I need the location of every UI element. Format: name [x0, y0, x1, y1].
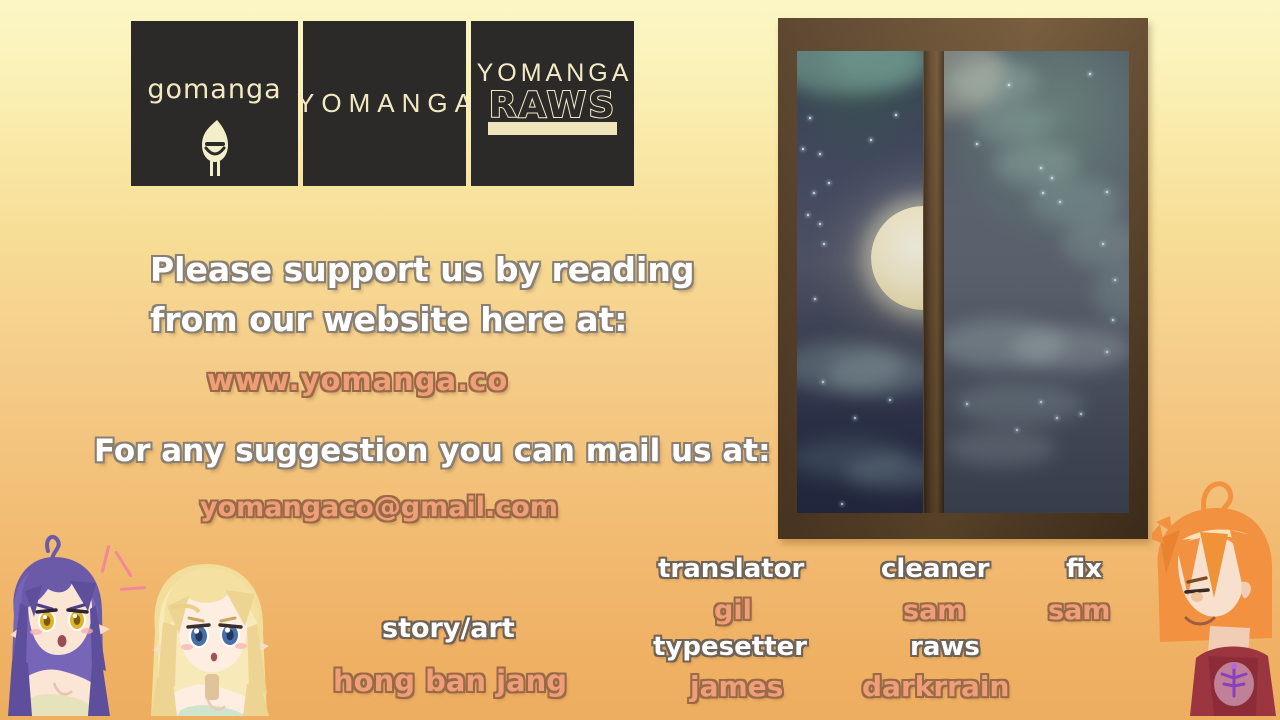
character-purple-haired-girl: [0, 531, 152, 720]
character-blonde-haired-girl: [137, 544, 287, 720]
cloud: [1030, 179, 1122, 225]
blob-mascot-icon: [193, 117, 237, 183]
credit-role-story-art: story/art: [382, 613, 515, 644]
yomanga-wordmark: YOMANGA: [290, 88, 479, 119]
credit-name-typesetter: james: [690, 670, 783, 703]
logo-box-yomanga: YOMANGA: [303, 21, 466, 186]
window-pane-right: [944, 51, 1129, 513]
credit-name-fix: sam: [1048, 595, 1110, 626]
cloud: [946, 429, 1056, 467]
cloud: [954, 383, 1084, 425]
credit-name-cleaner: sam: [903, 595, 965, 626]
credit-role-raws: raws: [910, 632, 980, 662]
credits-page: gomanga YOMANGA YOMANGA RAWS: [0, 0, 1280, 720]
credit-role-translator: translator: [658, 554, 804, 584]
credit-name-translator: gil: [714, 595, 752, 626]
support-text-line-4: For any suggestion you can mail us at:: [94, 433, 771, 469]
support-text-line-1: Please support us by reading: [150, 250, 694, 289]
credit-role-cleaner: cleaner: [881, 554, 989, 584]
credit-name-raws: darkrrain: [862, 670, 1009, 703]
credit-role-typesetter: typesetter: [653, 632, 807, 662]
credit-role-fix: fix: [1066, 554, 1102, 584]
window-divider: [924, 51, 944, 513]
character-orange-haired-boy: [1152, 478, 1280, 720]
cloud: [972, 103, 1052, 143]
night-window: [778, 18, 1148, 539]
credit-name-story-art: hong ban jang: [333, 664, 567, 698]
contact-email[interactable]: yomangaco@gmail.com: [200, 492, 558, 523]
window-pane-left: [797, 51, 923, 513]
website-url[interactable]: www.yomanga.co: [207, 363, 508, 397]
cloud: [1012, 327, 1129, 371]
logo-box-yomanga-raws: YOMANGA RAWS: [471, 21, 634, 186]
yomanga-raws-top-word: YOMANGA: [473, 60, 633, 86]
gomanga-wordmark: gomanga: [147, 74, 281, 105]
yomanga-raws-underbar: [488, 122, 617, 135]
support-text-line-2: from our website here at:: [150, 300, 627, 339]
logo-box-gomanga: gomanga: [131, 21, 298, 186]
logo-strip: gomanga YOMANGA YOMANGA RAWS: [131, 21, 634, 186]
yomanga-raws-word: RAWS: [489, 88, 617, 124]
